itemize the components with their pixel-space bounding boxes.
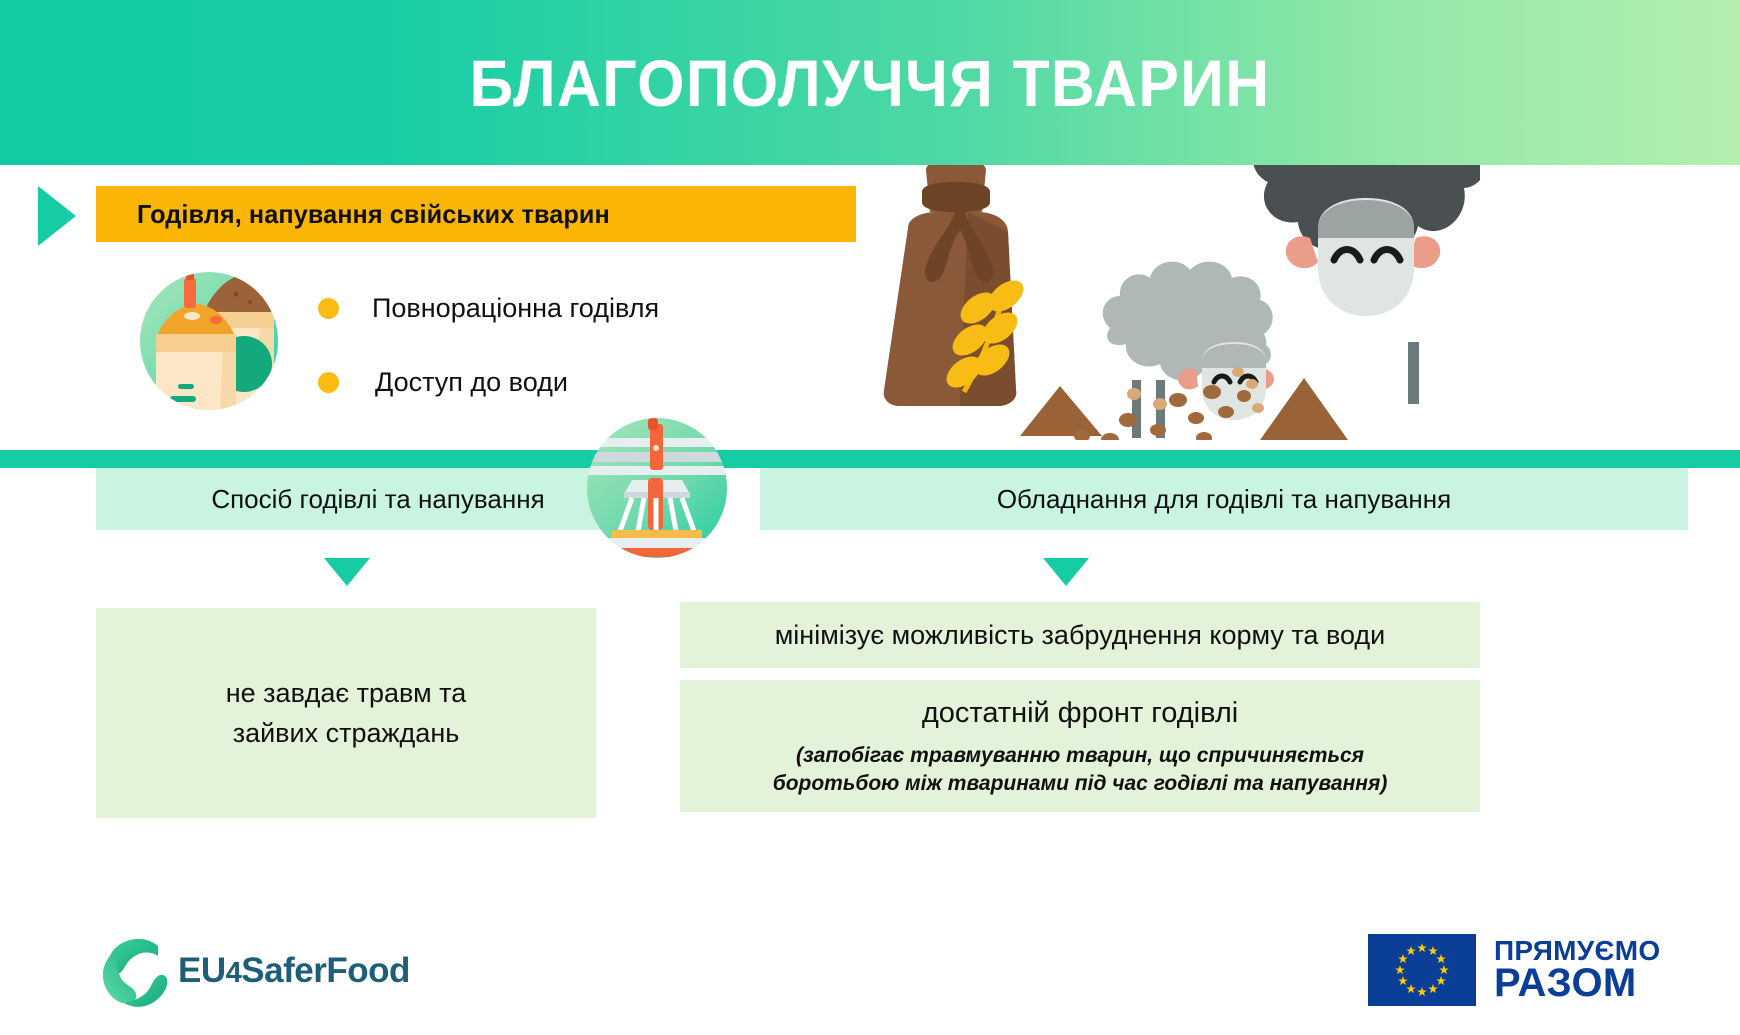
band-equipment: Обладнання для годівлі та напування xyxy=(760,468,1688,530)
eu-together-line1: ПРЯМУЄМО xyxy=(1494,937,1660,964)
eu-together-line2: РАЗОМ xyxy=(1494,964,1660,1003)
eu-together-wordmark: ПРЯМУЄМО РАЗОМ xyxy=(1494,937,1660,1004)
header-banner: БЛАГОПОЛУЧЧЯ ТВАРИН xyxy=(0,0,1740,165)
bullet-label: Повнораціонна годівля xyxy=(372,293,659,324)
bullet-dot-icon xyxy=(318,298,339,319)
eu4saferfood-wordmark: EU4SaferFood xyxy=(178,951,410,991)
poultry-feeder-icon xyxy=(578,418,736,558)
list-item: Повнораціонна годівля xyxy=(318,285,659,331)
result-line: зайвих страждань xyxy=(233,713,460,753)
eu4saferfood-swirl-icon xyxy=(100,932,174,1010)
feed-sack-icon xyxy=(884,160,1102,436)
band-method: Спосіб годівлі та напування xyxy=(96,468,660,530)
infographic-canvas: БЛАГОПОЛУЧЧЯ ТВАРИН xyxy=(0,0,1740,1035)
eu-flag-icon xyxy=(1368,934,1476,1006)
grain-pile xyxy=(1260,378,1348,440)
feed-sacks-icon xyxy=(140,272,278,410)
result-line: не завдає травм та xyxy=(226,673,467,713)
bullet-dot-icon xyxy=(318,372,339,393)
logo-number: 4 xyxy=(226,957,242,989)
result-note-line: боротьбою між тваринами під час годівлі … xyxy=(773,770,1388,798)
list-item: Доступ до води xyxy=(318,359,659,405)
section-arrow-icon xyxy=(38,186,76,246)
chevron-down-icon-left xyxy=(324,558,370,586)
chevron-down-icon-right xyxy=(1043,558,1089,586)
page-title: БЛАГОПОЛУЧЧЯ ТВАРИН xyxy=(70,0,1671,165)
small-sheep-icon xyxy=(1103,262,1274,438)
band-equipment-label: Обладнання для годівлі та напування xyxy=(997,484,1451,515)
logo-prefix: EU xyxy=(178,951,226,990)
bullet-label: Доступ до води xyxy=(375,367,568,398)
section-banner-label: Годівля, напування свійських тварин xyxy=(137,199,610,230)
bullet-list: Повнораціонна годівля Доступ до води xyxy=(318,285,659,433)
teal-divider xyxy=(0,450,1740,468)
result-line: мінімізує можливість забруднення корму т… xyxy=(775,620,1386,651)
band-method-label: Спосіб годівлі та напування xyxy=(211,484,544,515)
eu-together-logo: ПРЯМУЄМО РАЗОМ xyxy=(1368,928,1638,1012)
section-banner: Годівля, напування свійських тварин xyxy=(96,186,856,242)
result-headline: достатній фронт годівлі xyxy=(922,697,1238,730)
result-box-contamination: мінімізує можливість забруднення корму т… xyxy=(680,602,1480,668)
result-note-line: (запобігає травмуванню тварин, що спричи… xyxy=(796,742,1364,770)
eu4saferfood-logo: EU4SaferFood xyxy=(100,925,420,1017)
logo-suffix: SaferFood xyxy=(241,951,410,990)
result-box-feeding-front: достатній фронт годівлі (запобігає травм… xyxy=(680,680,1480,812)
result-box-method: не завдає травм та зайвих страждань xyxy=(96,608,596,818)
